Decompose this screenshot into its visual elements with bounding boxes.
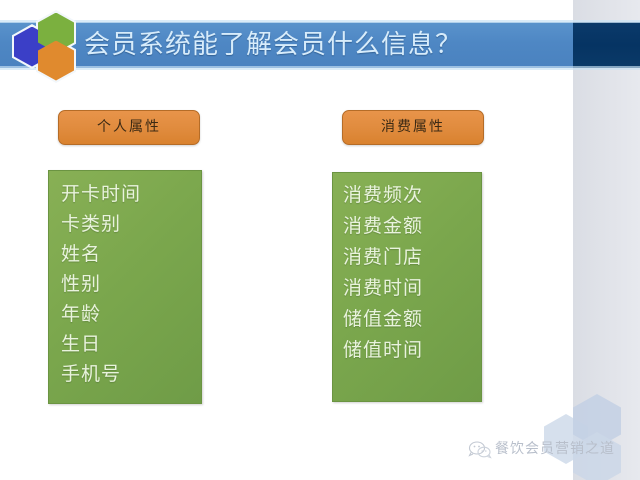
slide-canvas: 会员系统能了解会员什么信息？ 个人属性 开卡时间 卡类别 姓名 性别 年龄 生日…	[0, 0, 640, 480]
attribute-box-personal: 开卡时间 卡类别 姓名 性别 年龄 生日 手机号	[48, 170, 202, 404]
list-item: 手机号	[61, 359, 195, 389]
hexagon-logo	[10, 7, 90, 79]
list-item: 性别	[61, 269, 195, 299]
watermark-text: 餐饮会员营销之道	[495, 438, 615, 458]
watermark-hexagons	[540, 392, 640, 480]
list-item: 消费门店	[343, 242, 475, 273]
wechat-icon	[468, 440, 492, 460]
list-item: 消费频次	[343, 180, 475, 211]
list-item: 年龄	[61, 299, 195, 329]
category-label-consumption: 消费属性	[342, 110, 484, 145]
list-item: 储值金额	[343, 304, 475, 335]
page-title: 会员系统能了解会员什么信息？	[84, 22, 554, 68]
list-item: 姓名	[61, 239, 195, 269]
list-item: 消费时间	[343, 273, 475, 304]
list-item: 卡类别	[61, 209, 195, 239]
category-label-personal: 个人属性	[58, 110, 200, 145]
attribute-list-consumption: 消费频次 消费金额 消费门店 消费时间 储值金额 储值时间	[343, 180, 475, 366]
attribute-list-personal: 开卡时间 卡类别 姓名 性别 年龄 生日 手机号	[61, 179, 195, 389]
list-item: 生日	[61, 329, 195, 359]
title-bar-dark-section	[573, 22, 640, 68]
list-item: 开卡时间	[61, 179, 195, 209]
attribute-box-consumption: 消费频次 消费金额 消费门店 消费时间 储值金额 储值时间	[332, 172, 482, 402]
list-item: 储值时间	[343, 335, 475, 366]
list-item: 消费金额	[343, 211, 475, 242]
